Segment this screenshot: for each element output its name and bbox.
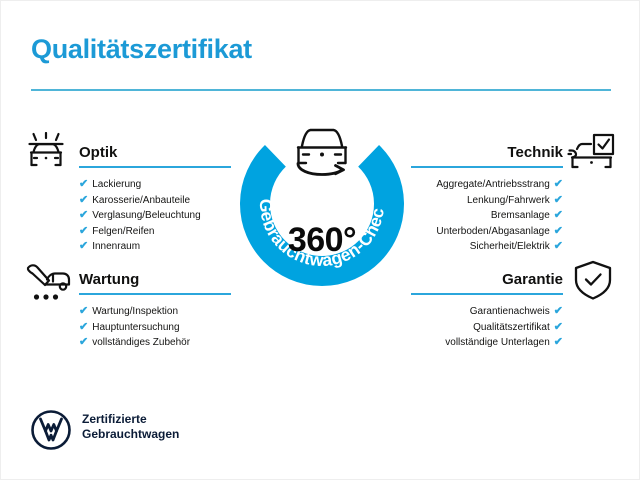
list-item-label: Unterboden/Abgasanlage bbox=[436, 224, 549, 240]
section-technik: Technik Aggregate/Antriebsstrang ✔ Lenku… bbox=[411, 144, 563, 255]
checklist-optik: ✔ Lackierung ✔ Karosserie/Anbauteile ✔ V… bbox=[79, 177, 231, 255]
section-heading-technik: Technik bbox=[411, 144, 563, 161]
list-item: ✔ Innenraum bbox=[79, 239, 231, 255]
badge-degrees: 360° bbox=[234, 221, 410, 260]
list-item: ✔ Hauptuntersuchung bbox=[79, 320, 231, 336]
qualitaetszertifikat-page: Qualitätszertifikat Optik ✔ Lackierung ✔ bbox=[0, 0, 640, 480]
list-item-label: Aggregate/Antriebsstrang bbox=[436, 177, 549, 193]
title-divider bbox=[31, 89, 611, 91]
footer-brand-text: Zertifizierte Gebrauchtwagen bbox=[82, 412, 179, 442]
footer-line-2: Gebrauchtwagen bbox=[82, 427, 179, 442]
section-garantie: Garantie Garantienachweis ✔ Qualitätszer… bbox=[411, 271, 563, 351]
list-item: Lenkung/Fahrwerk ✔ bbox=[411, 193, 563, 209]
list-item-label: Lenkung/Fahrwerk bbox=[467, 193, 550, 209]
list-item: Bremsanlage ✔ bbox=[411, 208, 563, 224]
check-icon: ✔ bbox=[554, 335, 563, 351]
car-checkbox-icon bbox=[567, 132, 617, 181]
check-icon: ✔ bbox=[79, 320, 88, 336]
list-item-label: Innenraum bbox=[92, 239, 140, 255]
badge-360-gebrauchtwagen-check: Gebrauchtwagen-Check 360° bbox=[234, 116, 410, 292]
check-icon: ✔ bbox=[554, 304, 563, 320]
list-item: ✔ Lackierung bbox=[79, 177, 231, 193]
list-item-label: Lackierung bbox=[92, 177, 141, 193]
list-item: ✔ Felgen/Reifen bbox=[79, 224, 231, 240]
list-item-label: Felgen/Reifen bbox=[92, 224, 154, 240]
checklist-garantie: Garantienachweis ✔ Qualitätszertifikat ✔… bbox=[411, 304, 563, 351]
list-item: ✔ Karosserie/Anbauteile bbox=[79, 193, 231, 209]
shield-check-icon bbox=[572, 259, 614, 308]
list-item-label: Hauptuntersuchung bbox=[92, 320, 179, 336]
section-heading-garantie: Garantie bbox=[411, 271, 563, 288]
check-icon: ✔ bbox=[554, 239, 563, 255]
section-heading-optik: Optik bbox=[79, 144, 231, 161]
checklist-technik: Aggregate/Antriebsstrang ✔ Lenkung/Fahrw… bbox=[411, 177, 563, 255]
check-icon: ✔ bbox=[554, 320, 563, 336]
list-item: Garantienachweis ✔ bbox=[411, 304, 563, 320]
list-item: ✔ vollständiges Zubehör bbox=[79, 335, 231, 351]
check-icon: ✔ bbox=[79, 239, 88, 255]
list-item-label: Garantienachweis bbox=[470, 304, 550, 320]
list-item: ✔ Verglasung/Beleuchtung bbox=[79, 208, 231, 224]
list-item-label: Wartung/Inspektion bbox=[92, 304, 178, 320]
list-item-label: Sicherheit/Elektrik bbox=[470, 239, 550, 255]
car-wash-icon bbox=[23, 132, 69, 181]
list-item: Qualitätszertifikat ✔ bbox=[411, 320, 563, 336]
list-item-label: Karosserie/Anbauteile bbox=[92, 193, 190, 209]
footer-line-1: Zertifizierte bbox=[82, 412, 179, 427]
check-icon: ✔ bbox=[554, 177, 563, 193]
list-item-label: Qualitätszertifikat bbox=[473, 320, 550, 336]
list-item: Aggregate/Antriebsstrang ✔ bbox=[411, 177, 563, 193]
list-item-label: Verglasung/Beleuchtung bbox=[92, 208, 200, 224]
check-icon: ✔ bbox=[554, 193, 563, 209]
list-item-label: Bremsanlage bbox=[491, 208, 550, 224]
section-heading-wartung: Wartung bbox=[79, 271, 231, 288]
check-icon: ✔ bbox=[79, 193, 88, 209]
check-icon: ✔ bbox=[79, 224, 88, 240]
list-item: Unterboden/Abgasanlage ✔ bbox=[411, 224, 563, 240]
check-icon: ✔ bbox=[79, 177, 88, 193]
vw-logo bbox=[30, 409, 72, 456]
section-divider-technik bbox=[411, 166, 563, 168]
list-item: vollständige Unterlagen ✔ bbox=[411, 335, 563, 351]
check-icon: ✔ bbox=[79, 208, 88, 224]
check-icon: ✔ bbox=[79, 335, 88, 351]
section-divider-garantie bbox=[411, 293, 563, 295]
check-icon: ✔ bbox=[554, 208, 563, 224]
section-divider-optik bbox=[79, 166, 231, 168]
page-title: Qualitätszertifikat bbox=[31, 34, 252, 65]
list-item-label: vollständiges Zubehör bbox=[92, 335, 190, 351]
list-item-label: vollständige Unterlagen bbox=[445, 335, 550, 351]
check-icon: ✔ bbox=[554, 224, 563, 240]
section-divider-wartung bbox=[79, 293, 231, 295]
check-icon: ✔ bbox=[79, 304, 88, 320]
list-item: Sicherheit/Elektrik ✔ bbox=[411, 239, 563, 255]
checklist-wartung: ✔ Wartung/Inspektion ✔ Hauptuntersuchung… bbox=[79, 304, 231, 351]
list-item: ✔ Wartung/Inspektion bbox=[79, 304, 231, 320]
section-wartung: Wartung ✔ Wartung/Inspektion ✔ Hauptunte… bbox=[79, 271, 231, 351]
car-rotate-icon bbox=[285, 120, 359, 187]
section-optik: Optik ✔ Lackierung ✔ Karosserie/Anbautei… bbox=[79, 144, 231, 255]
car-service-wrench-icon bbox=[23, 262, 73, 311]
